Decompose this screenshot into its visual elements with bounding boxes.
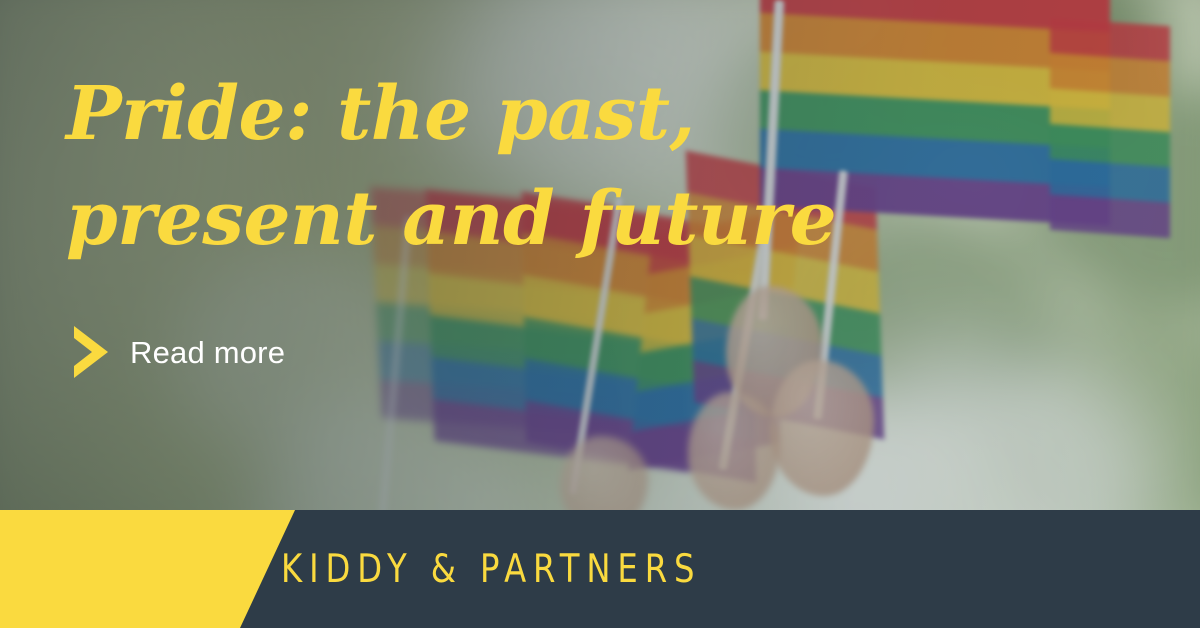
footer-bar: KIDDY & PARTNERS	[0, 510, 1200, 628]
page-title: Pride: the past, present and future	[66, 62, 996, 272]
chevron-right-icon	[70, 326, 108, 378]
read-more-link[interactable]: Read more	[70, 326, 285, 378]
read-more-label: Read more	[130, 337, 285, 368]
brand-name: KIDDY & PARTNERS	[281, 510, 701, 628]
footer-yellow-wedge	[0, 510, 300, 628]
pride-banner: Pride: the past, present and future Read…	[0, 0, 1200, 628]
